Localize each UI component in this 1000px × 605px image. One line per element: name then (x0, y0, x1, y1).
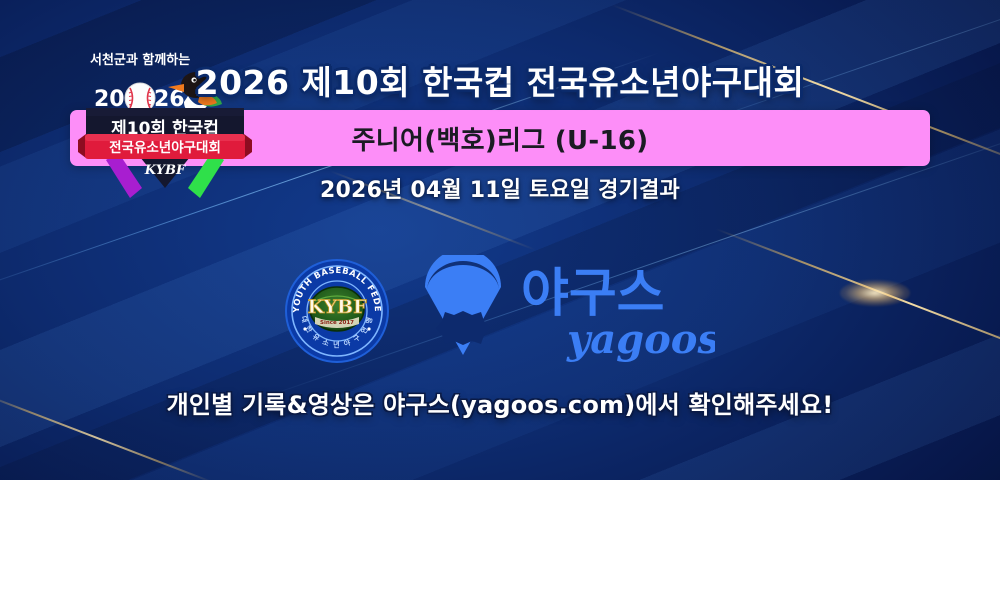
yagoos-diamond-icon (425, 255, 501, 355)
kybf-abbr: KYBF (307, 296, 367, 318)
page-white-area (0, 480, 1000, 605)
tournament-result-banner: 서천군과 함께하는 20 26 (0, 0, 1000, 480)
game-date-label: 2026년 04월 11일 토요일 경기결과 (0, 172, 1000, 204)
yagoos-logo: 야구스 yagoos (415, 255, 715, 367)
footer-note: 개인별 기록&영상은 야구스(yagoos.com)에서 확인해주세요! (0, 385, 1000, 420)
league-name-label: 주니어(백호)리그 (U-16) (0, 110, 1000, 166)
screenshot-root: 서천군과 함께하는 20 26 (0, 0, 1000, 605)
kybf-emblem-icon: KOREA YOUTH BASEBALL FEDERATION 대 한 유 소 … (285, 259, 389, 363)
page-title: 2026 제10회 한국컵 전국유소년야구대회 (0, 56, 1000, 104)
kybf-since: Since 2017 (320, 320, 354, 326)
yagoos-hangul: 야구스 (521, 264, 665, 324)
yagoos-latin: yagoos (566, 316, 715, 363)
logo-row: KOREA YOUTH BASEBALL FEDERATION 대 한 유 소 … (0, 252, 1000, 370)
